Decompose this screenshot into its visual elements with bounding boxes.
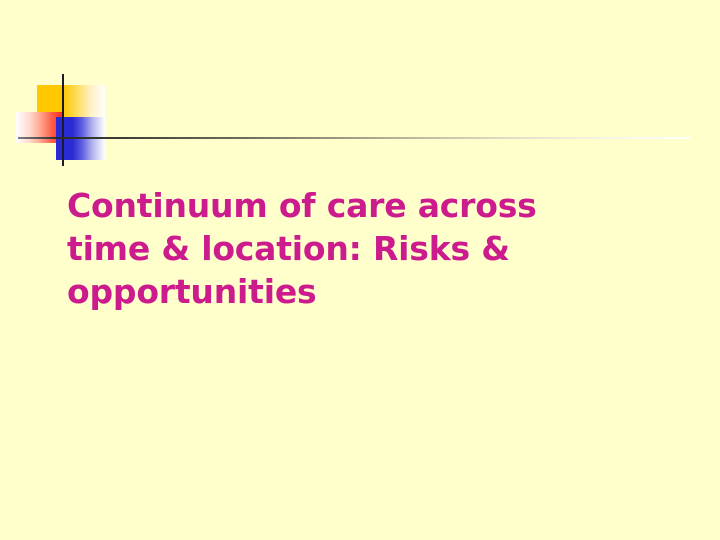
header-horizontal-rule: [18, 137, 690, 139]
three-square-gradient-logo: [0, 0, 260, 180]
title-slide: Continuum of care across time & location…: [0, 0, 720, 540]
slide-title-line-3: opportunities: [67, 270, 667, 313]
slide-title-line-1: Continuum of care across: [67, 184, 667, 227]
logo-vertical-rule: [62, 74, 64, 166]
slide-title: Continuum of care across time & location…: [67, 184, 667, 313]
slide-title-line-2: time & location: Risks &: [67, 227, 667, 270]
